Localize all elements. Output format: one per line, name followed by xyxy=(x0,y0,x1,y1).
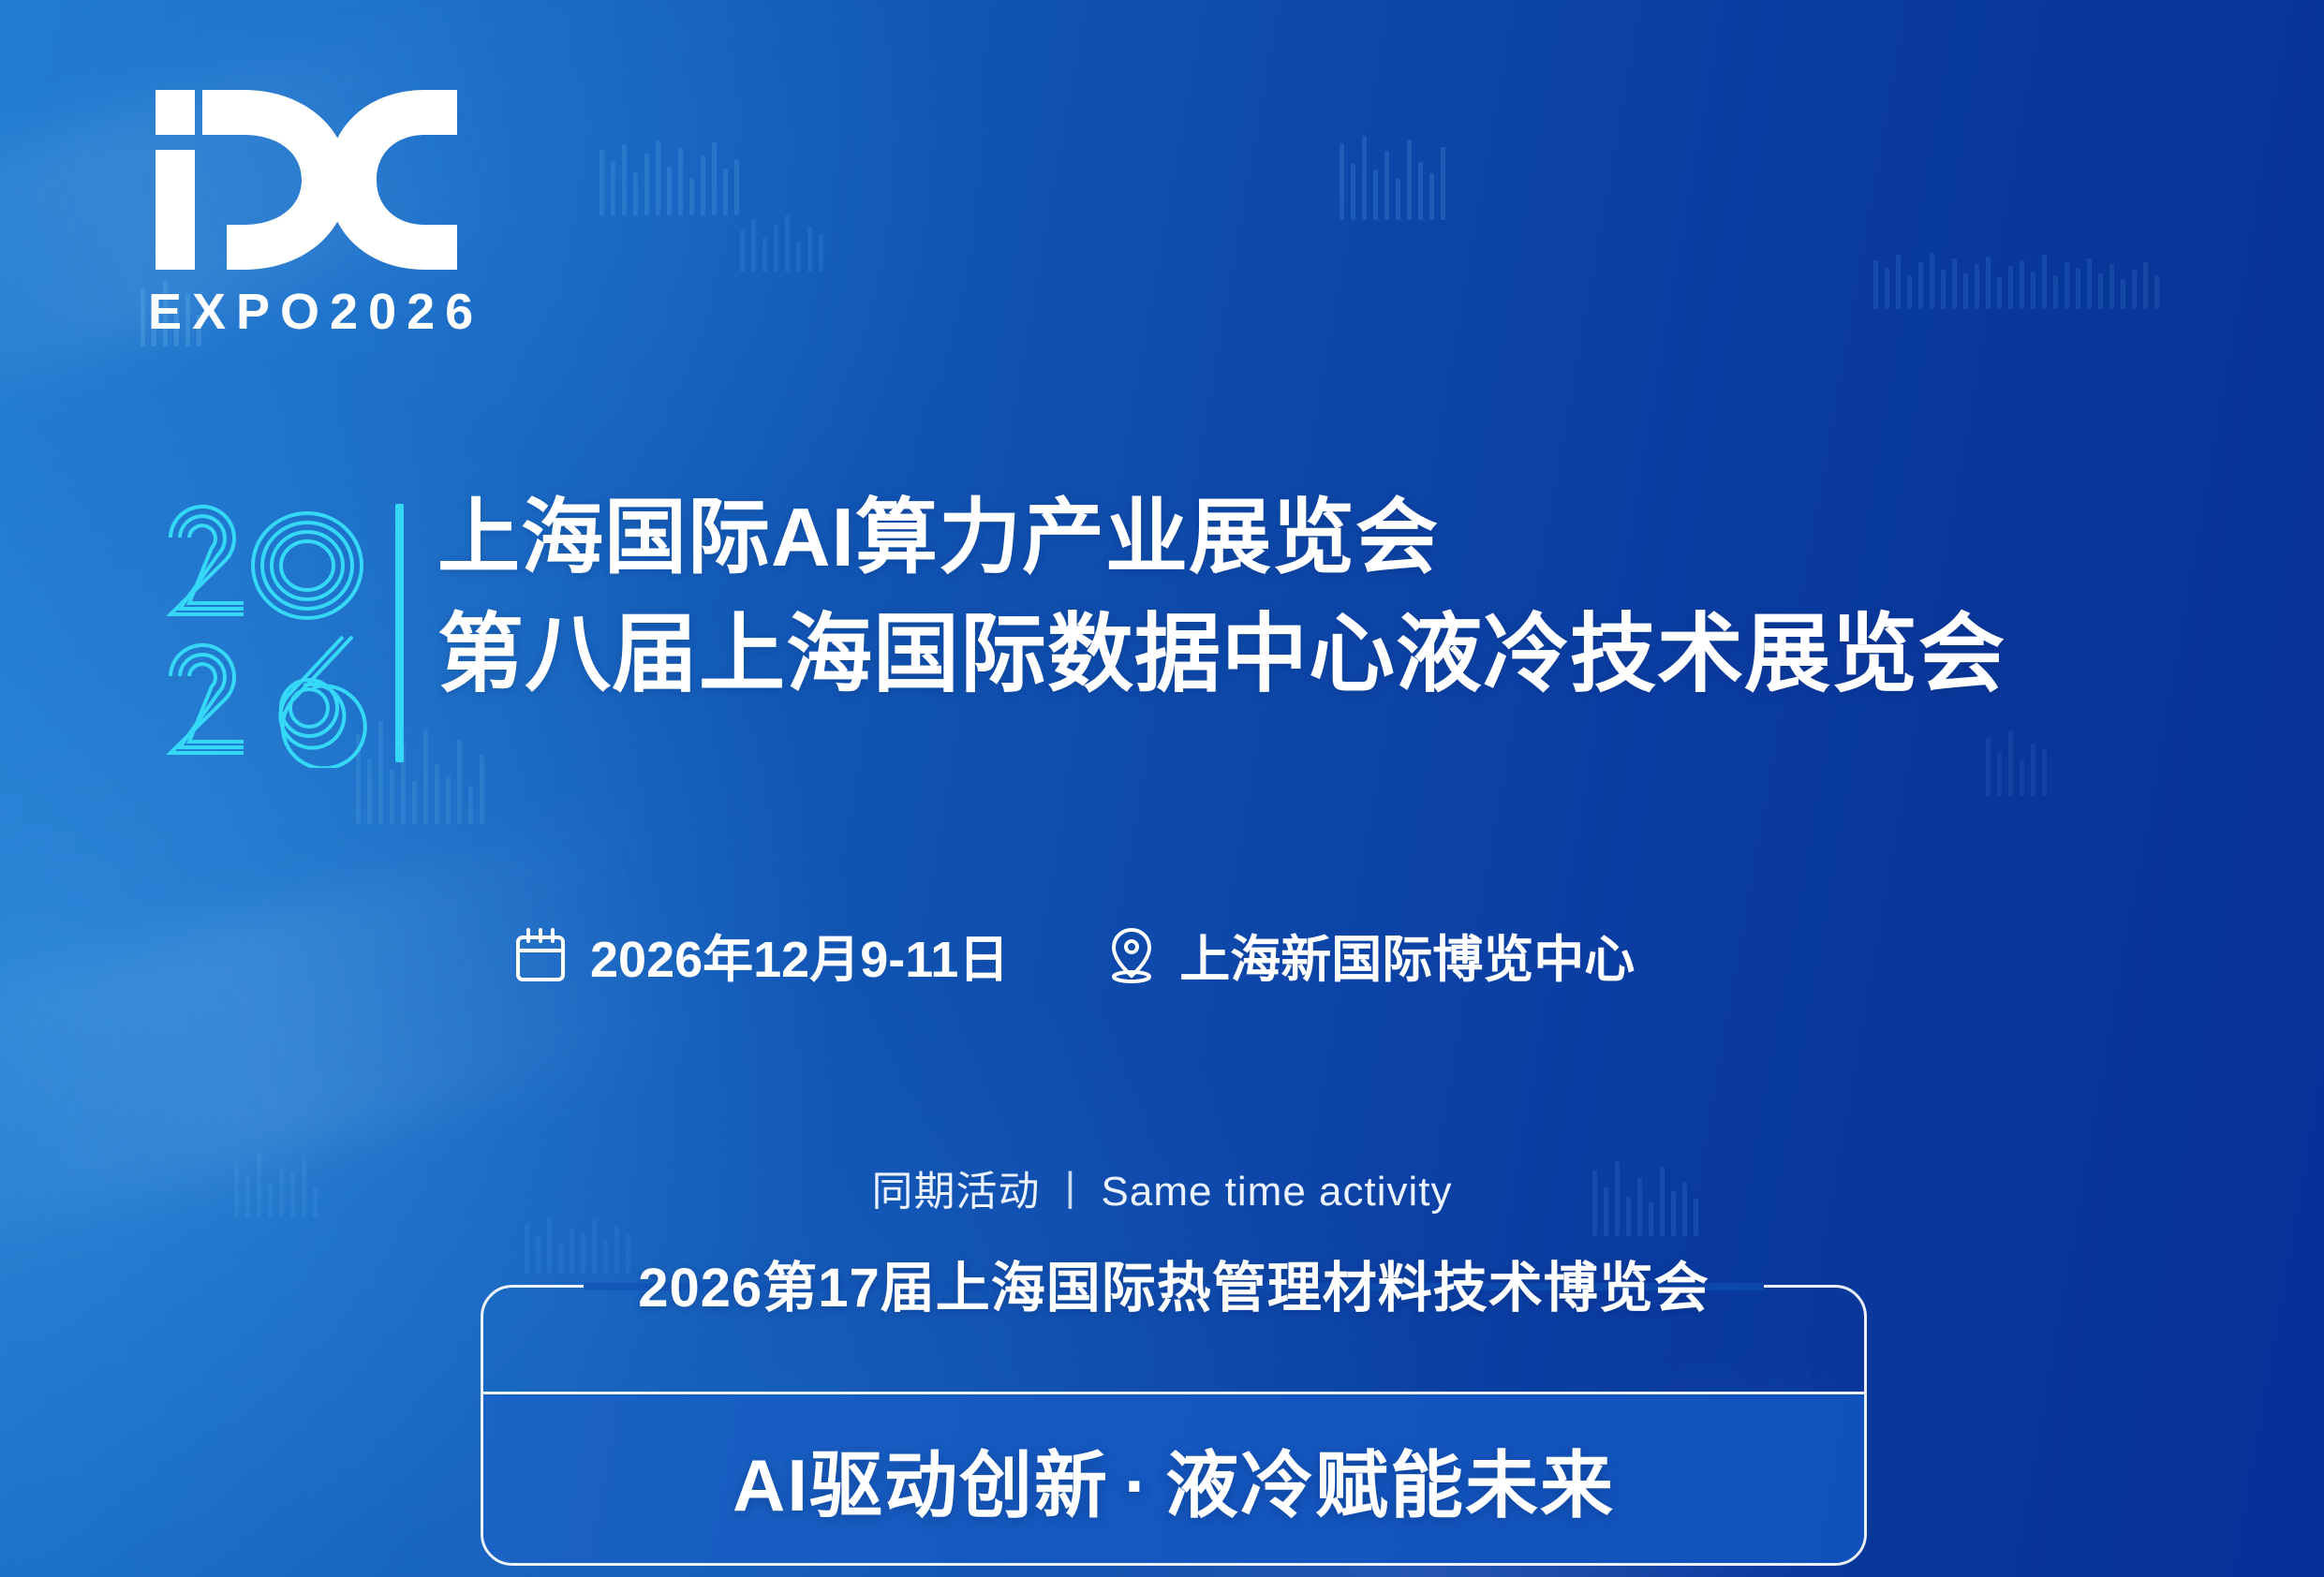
slogan-dot: · xyxy=(1109,1444,1165,1526)
idc-monogram-icon xyxy=(148,86,466,273)
co-event-title: 2026第17届上海国际热管理材料技术博览会 xyxy=(638,1244,1710,1322)
event-venue-text: 上海新国际博览中心 xyxy=(1179,918,1635,992)
co-event-box[interactable]: 2026第17届上海国际热管理材料技术博览会 AI驱动创新·液冷赋能未来 xyxy=(481,1285,1867,1566)
event-meta-row: 2026年12月9-11日 上海新国际博览中心 xyxy=(513,918,1635,992)
event-date-text: 2026年12月9-11日 xyxy=(590,918,1009,992)
logo-wordmark: EXPO2026 xyxy=(148,287,483,337)
slogan-part-left: AI驱动创新 xyxy=(733,1444,1109,1526)
event-date: 2026年12月9-11日 xyxy=(513,918,1009,992)
hero-title-block: 上海国际AI算力产业展览会 第八届上海国际数据中心液冷技术展览会 xyxy=(159,479,2006,768)
background-ticks-1 xyxy=(600,140,739,215)
concurrent-label-en: Same time activity xyxy=(1102,1169,1453,1215)
background-ticks-9 xyxy=(525,1217,630,1274)
hero-title-line-2: 第八届上海国际数据中心液冷技术展览会 xyxy=(437,602,2006,707)
background-ticks-4 xyxy=(1873,253,2159,309)
concurrent-separator: 丨 xyxy=(1041,1169,1102,1215)
background-ticks-3 xyxy=(1340,136,1445,220)
background-ticks-2 xyxy=(740,215,823,272)
poster-canvas: EXPO2026 xyxy=(0,0,2324,1577)
hero-title-line-1: 上海国际AI算力产业展览会 xyxy=(437,487,2006,587)
calendar-icon xyxy=(513,926,568,984)
slogan-part-right: 液冷赋能未来 xyxy=(1165,1444,1615,1526)
concurrent-activity-label: 同期活动丨Same time activity xyxy=(0,1157,2324,1217)
year-2026-graphic-icon xyxy=(159,496,375,768)
title-accent-bar xyxy=(395,504,404,762)
location-pin-icon xyxy=(1106,925,1157,985)
event-slogan: AI驱动创新·液冷赋能未来 xyxy=(481,1427,1867,1532)
brand-logo[interactable]: EXPO2026 xyxy=(148,86,483,337)
concurrent-label-cn: 同期活动 xyxy=(872,1169,1041,1215)
event-venue: 上海新国际博览中心 xyxy=(1106,918,1635,992)
